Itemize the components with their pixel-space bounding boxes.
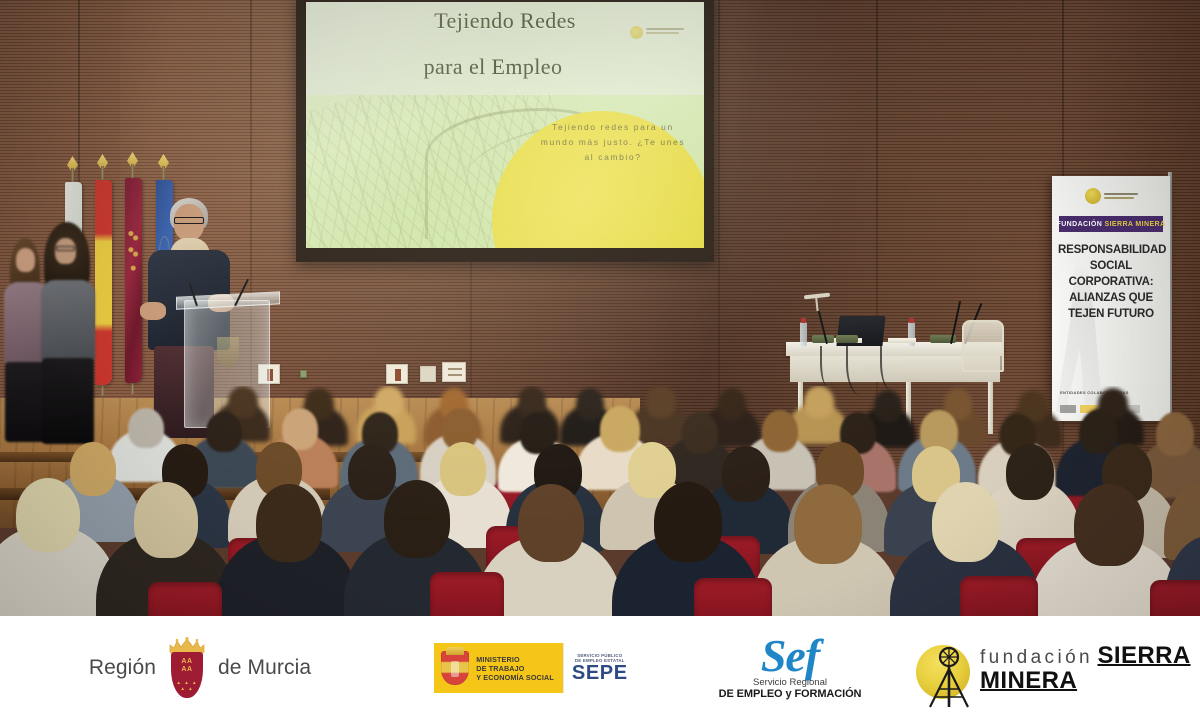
equipment-case [836,335,858,343]
region-label-left: Región [89,656,156,680]
banner-headline: RESPONSABILIDAD SOCIAL CORPORATIVA: ALIA… [1058,242,1164,322]
rollup-banner: FUNDACIÓN SIERRA MINERA RESPONSABILIDAD … [1052,176,1170,421]
projection-screen-frame: Tejiendo Redes para el Empleo Tejiendo r… [296,0,714,262]
water-bottle-icon [800,322,807,346]
cable [820,346,832,386]
murcia-castles-motif [127,226,140,280]
escudo-de-espana-icon [441,651,469,685]
event-photo-page: Tejiendo Redes para el Empleo Tejiendo r… [0,0,1200,720]
sef-wordmark: Sef [719,635,862,677]
murcia-shield: AAAA ▲ ▲ ▲▲ ▲ [171,652,203,698]
shield-initials: AAAA [171,658,203,673]
wordmark-lines [1104,193,1138,199]
audience [0,386,1200,616]
fundacion-sierra-minera-logo-icon [1052,188,1170,204]
logo-ministerio-de-trabajo-y-economia-social: MINISTERIO DE TRABAJO Y ECONOMÍA SOCIAL … [400,616,670,720]
ministerio-line-2: DE TRABAJO [476,664,524,673]
wall-marker [300,370,307,378]
ministerio-line-3: Y ECONOMÍA SOCIAL [476,673,554,682]
banner-organisation-ribbon: FUNDACIÓN SIERRA MINERA [1059,216,1163,232]
equipment-case [812,335,834,343]
flag-cloth [125,178,142,383]
chair-icon [962,320,1004,372]
sef-subtitle-line-1: Servicio Regional [719,677,862,688]
head [16,248,35,272]
banner-ribbon-text: FUNDACIÓN SIERRA MINERA [1057,221,1166,228]
ministerio-block: MINISTERIO DE TRABAJO Y ECONOMÍA SOCIAL [434,643,563,693]
logo-sef: Sef Servicio Regional DE EMPLEO y FORMAC… [670,616,910,720]
torso [41,280,95,362]
projection-screen: Tejiendo Redes para el Empleo Tejiendo r… [306,2,704,248]
eyeglasses-icon [56,246,75,251]
eyeglasses-icon [174,217,204,224]
wall-switch-plate [442,362,466,382]
wall-outlet-plate [386,364,408,384]
head [55,238,76,264]
screen-glare [306,2,704,248]
mining-headframe-icon [926,643,986,709]
event-photograph: Tejiendo Redes para el Empleo Tejiendo r… [0,0,1200,616]
cable [880,344,898,390]
fsm-word-top: fundación [980,647,1093,668]
hand [140,302,166,320]
ministerio-line-1: MINISTERIO [476,655,519,664]
sponsor-logo-band: Región AAAA ▲ ▲ ▲▲ ▲ de Murcia [0,616,1200,720]
shield-castles: ▲ ▲ ▲▲ ▲ [171,680,203,691]
logo-region-de-murcia: Región AAAA ▲ ▲ ▲▲ ▲ de Murcia [0,616,400,720]
logo-fundacion-sierra-minera: fundación SIERRA MINERA [910,616,1200,720]
papers [888,338,916,343]
wall-data-plate [420,366,436,382]
institutional-crest-icon [215,337,241,371]
sun-glyph [1085,188,1101,204]
sef-subtitle-line-2: DE EMPLEO y FORMACIÓN [719,688,862,701]
sepe-wordmark: SEPE [572,663,628,683]
ministerio-text: MINISTERIO DE TRABAJO Y ECONOMÍA SOCIAL [476,655,554,682]
region-label-right: de Murcia [218,656,311,680]
sepe-block: SERVICIO PÚBLICO DE EMPLEO ESTATAL SEPE [563,643,636,693]
murcia-coat-of-arms-icon: AAAA ▲ ▲ ▲▲ ▲ [165,637,209,699]
sepe-line-1: SERVICIO PÚBLICO [577,653,622,658]
fsm-wordmark: fundación SIERRA MINERA [980,643,1200,693]
